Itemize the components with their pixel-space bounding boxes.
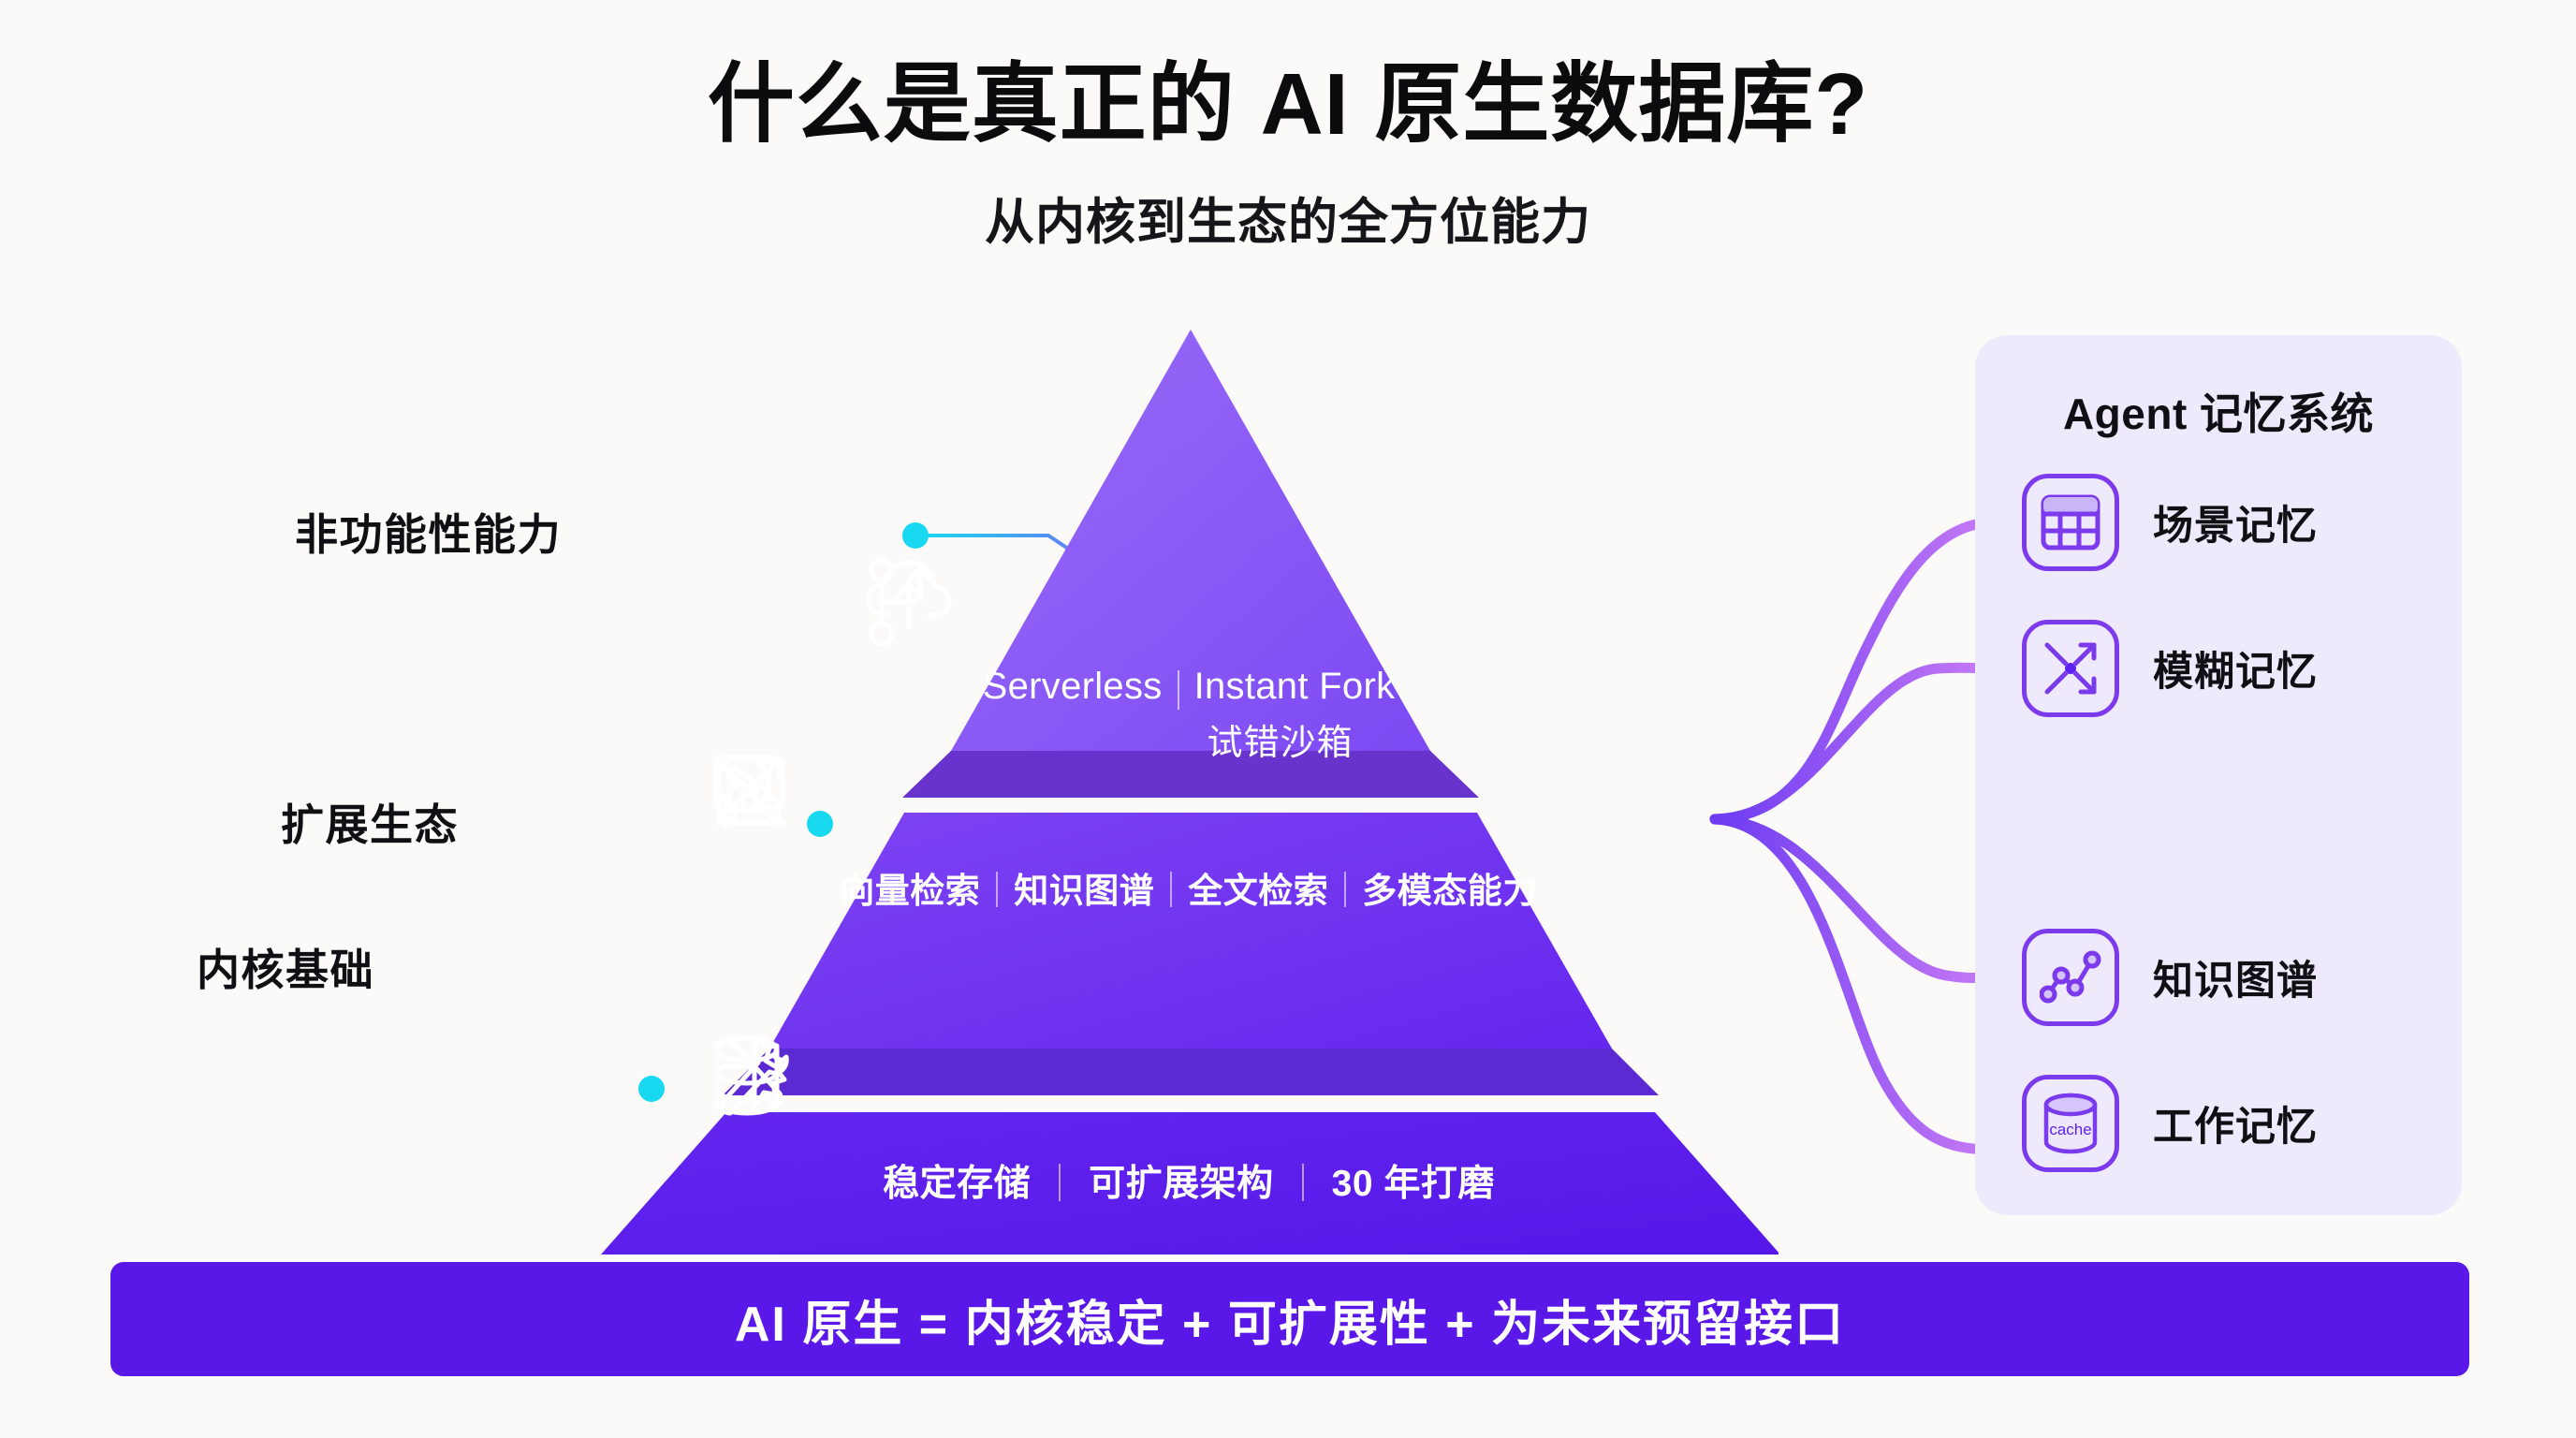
label-divider	[996, 872, 998, 907]
agent-memory-panel-title: Agent 记忆系统	[1975, 380, 2462, 442]
tier-name-kernel: 内核基础	[197, 936, 374, 998]
table-grid-icon	[2022, 474, 2119, 571]
tier-name-nonfunctional: 非功能性能力	[295, 501, 562, 563]
middle-item-3: 多模态能力	[1362, 862, 1538, 913]
label-divider	[1302, 1164, 1304, 1201]
memory-item-scene[interactable]: 场景记忆	[2022, 474, 2318, 571]
infographic-canvas: 什么是真正的 AI 原生数据库? 从内核到生态的全方位能力	[0, 0, 2576, 1438]
base-item-1: 可扩展架构	[1089, 1154, 1274, 1207]
cache-icon-text: cache	[2049, 1121, 2091, 1138]
apex-caption-en: Serverless Instant Fork	[866, 666, 1512, 708]
middle-tier-labels: 向量检索 知识图谱 全文检索 多模态能力	[711, 862, 1666, 913]
memory-item-fuzzy[interactable]: 模糊记忆	[2022, 620, 2318, 717]
apex-icon-row	[866, 557, 1512, 647]
middle-icon-row	[711, 754, 1666, 832]
pyramid-diagram: Serverless Instant Fork 试错沙箱	[599, 318, 1778, 1255]
apex-caption-instant-fork: Instant Fork	[1194, 666, 1396, 708]
memory-item-working[interactable]: cache 工作记忆	[2022, 1075, 2318, 1172]
label-divider	[1344, 872, 1346, 907]
base-icon-row	[711, 1034, 1666, 1119]
memory-label-knowledge-graph: 知识图谱	[2153, 948, 2318, 1006]
middle-item-0: 向量检索	[840, 862, 980, 913]
memory-label-working: 工作记忆	[2153, 1094, 2318, 1152]
tier-name-ecosystem: 扩展生态	[281, 791, 459, 853]
graph-nodes-icon	[2022, 929, 2119, 1026]
label-divider	[1170, 872, 1172, 907]
middle-item-1: 知识图谱	[1014, 862, 1154, 913]
apex-caption-serverless: Serverless	[983, 666, 1163, 708]
agent-memory-panel: Agent 记忆系统 场景记忆	[1975, 335, 2462, 1215]
tier-content-apex: Serverless Instant Fork 试错沙箱	[866, 557, 1512, 765]
tier-content-middle: 向量检索 知识图谱 全文检索 多模态能力	[711, 754, 1666, 913]
apex-caption-divider	[1178, 670, 1179, 710]
base-item-2: 30 年打磨	[1332, 1154, 1495, 1207]
memory-label-scene: 场景记忆	[2153, 493, 2318, 551]
tier-content-base: 稳定存储 可扩展架构 30 年打磨	[711, 1034, 1666, 1207]
base-item-0: 稳定存储	[883, 1154, 1031, 1207]
label-divider	[1059, 1164, 1061, 1201]
memory-label-fuzzy: 模糊记忆	[2153, 639, 2318, 697]
base-tier-labels: 稳定存储 可扩展架构 30 年打磨	[711, 1154, 1666, 1207]
fuzzy-vector-icon	[2022, 620, 2119, 717]
middle-item-2: 全文检索	[1188, 862, 1328, 913]
cache-cylinder-icon: cache	[2022, 1075, 2119, 1172]
summary-banner-text: AI 原生 = 内核稳定 + 可扩展性 + 为未来预留接口	[735, 1284, 1845, 1355]
summary-banner: AI 原生 = 内核稳定 + 可扩展性 + 为未来预留接口	[110, 1262, 2469, 1376]
memory-item-knowledge-graph[interactable]: 知识图谱	[2022, 929, 2318, 1026]
